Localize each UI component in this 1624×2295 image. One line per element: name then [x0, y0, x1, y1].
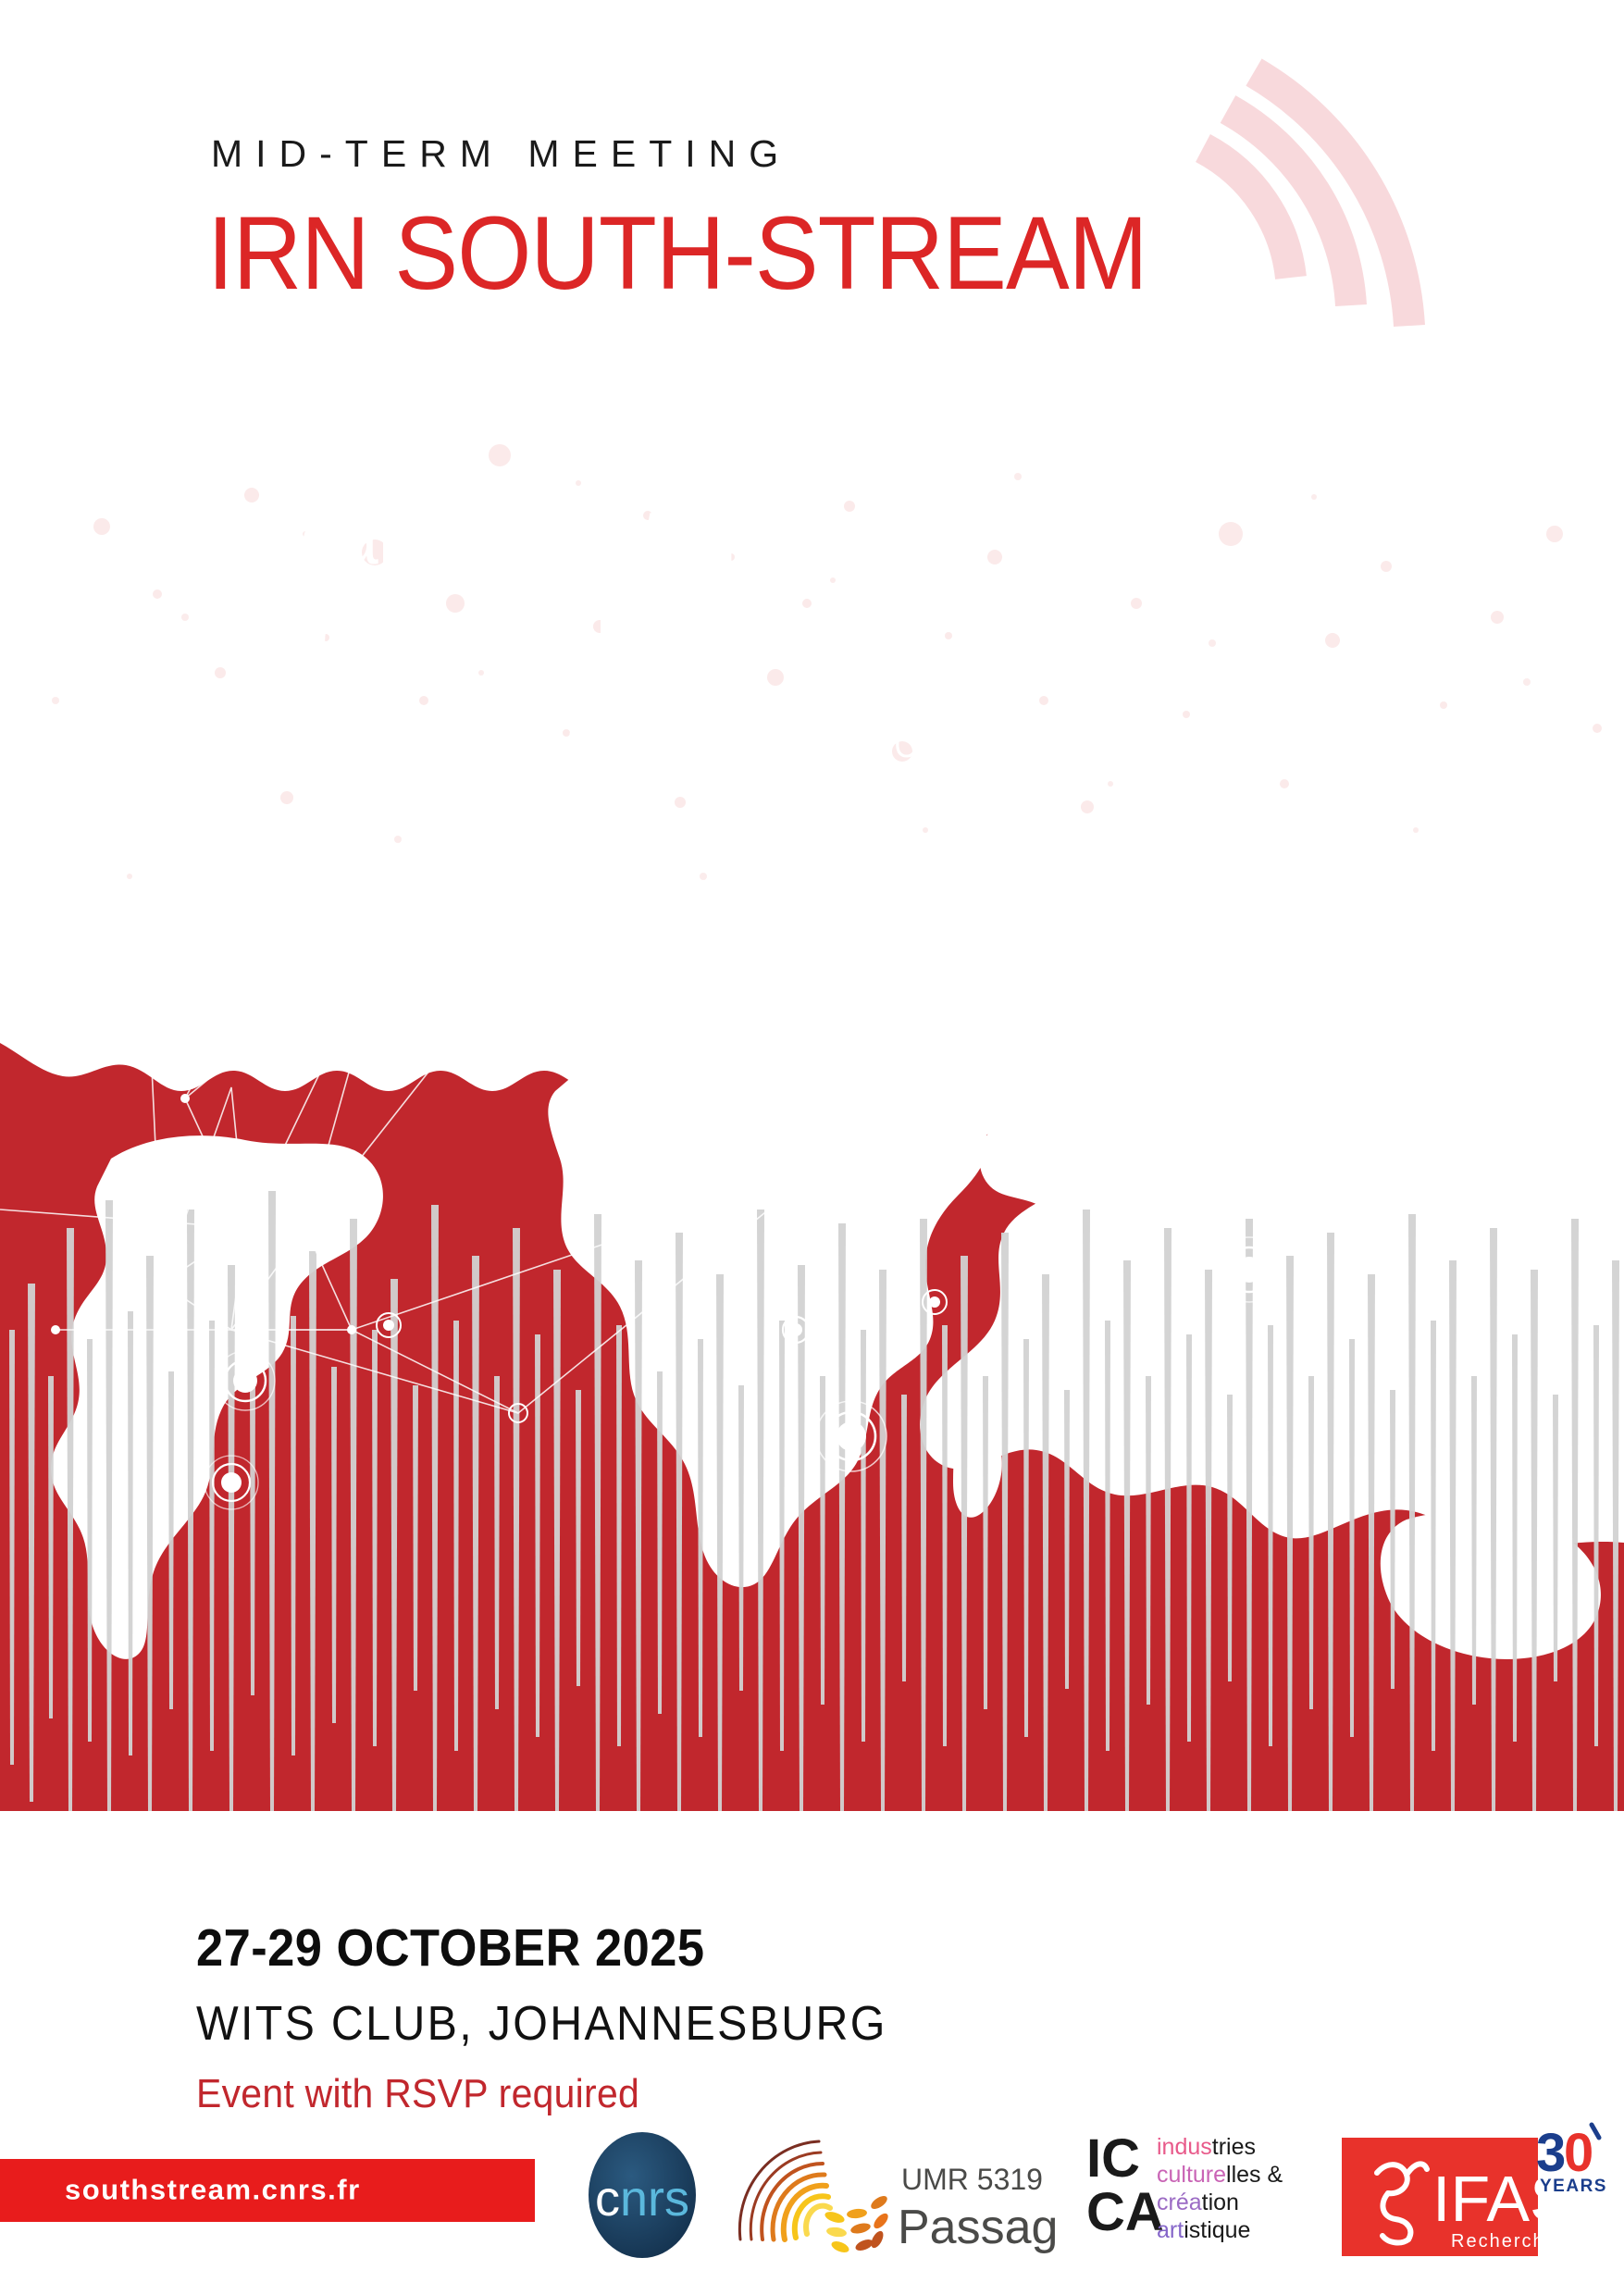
ifas-30-years-badge: 3 0 YEARS — [1536, 2123, 1607, 2196]
svg-text:CA: CA — [1086, 2182, 1164, 2242]
cnrs-logo[interactable]: cnrs — [583, 2127, 701, 2264]
svg-text:industries: industries — [1157, 2134, 1256, 2160]
svg-text:artistique: artistique — [1157, 2217, 1250, 2243]
poster-header: MID-TERM MEETING IRN SOUTH-STREAM — [0, 0, 1624, 395]
svg-text:IC: IC — [1086, 2128, 1140, 2189]
ifas-subtitle: Recherche — [1451, 2231, 1557, 2252]
website-url-text[interactable]: southstream.cnrs.fr — [65, 2173, 361, 2206]
passages-umr-text: UMR 5319 — [901, 2163, 1043, 2196]
poster-canvas: MID-TERM MEETING IRN SOUTH-STREAM Stream… — [0, 0, 1624, 2295]
passages-fingerprint-icon — [739, 2141, 830, 2239]
icca-logo[interactable]: IC CA industries culturelles & création … — [1086, 2127, 1308, 2247]
signal-wave-arcs — [1180, 0, 1624, 342]
map-artwork-panel — [0, 395, 1624, 1811]
passages-seeds — [824, 2193, 890, 2254]
svg-text:culturelles &: culturelles & — [1157, 2162, 1283, 2188]
partner-logo-row: cnrs — [583, 2119, 1624, 2276]
icca-monogram: IC CA — [1086, 2128, 1164, 2242]
passages-logo[interactable]: UMR 5319 Passages — [731, 2128, 1055, 2258]
svg-text:3: 3 — [1536, 2123, 1566, 2183]
event-venue: WITS CLUB, JOHANNESBURG — [196, 1996, 887, 2052]
website-url-bar[interactable]: southstream.cnrs.fr — [0, 2159, 535, 2222]
event-date: 27-29 OCTOBER 2025 — [196, 1917, 704, 1979]
svg-text:0: 0 — [1564, 2123, 1593, 2183]
kicker-text: MID-TERM MEETING — [211, 132, 791, 176]
svg-text:YEARS: YEARS — [1540, 2177, 1607, 2196]
passages-wordmark: Passages — [898, 2201, 1055, 2254]
poster-wordmark: IRN SOUTH-STREAM — [207, 202, 1147, 305]
rsvp-note: Event with RSVP required — [196, 2071, 639, 2117]
world-map-illustration — [0, 395, 1624, 1811]
ifas-logo[interactable]: IFAS Recherche 3 0 YEARS — [1334, 2117, 1612, 2275]
svg-text:cnrs: cnrs — [595, 2171, 689, 2227]
svg-text:création: création — [1157, 2190, 1239, 2215]
